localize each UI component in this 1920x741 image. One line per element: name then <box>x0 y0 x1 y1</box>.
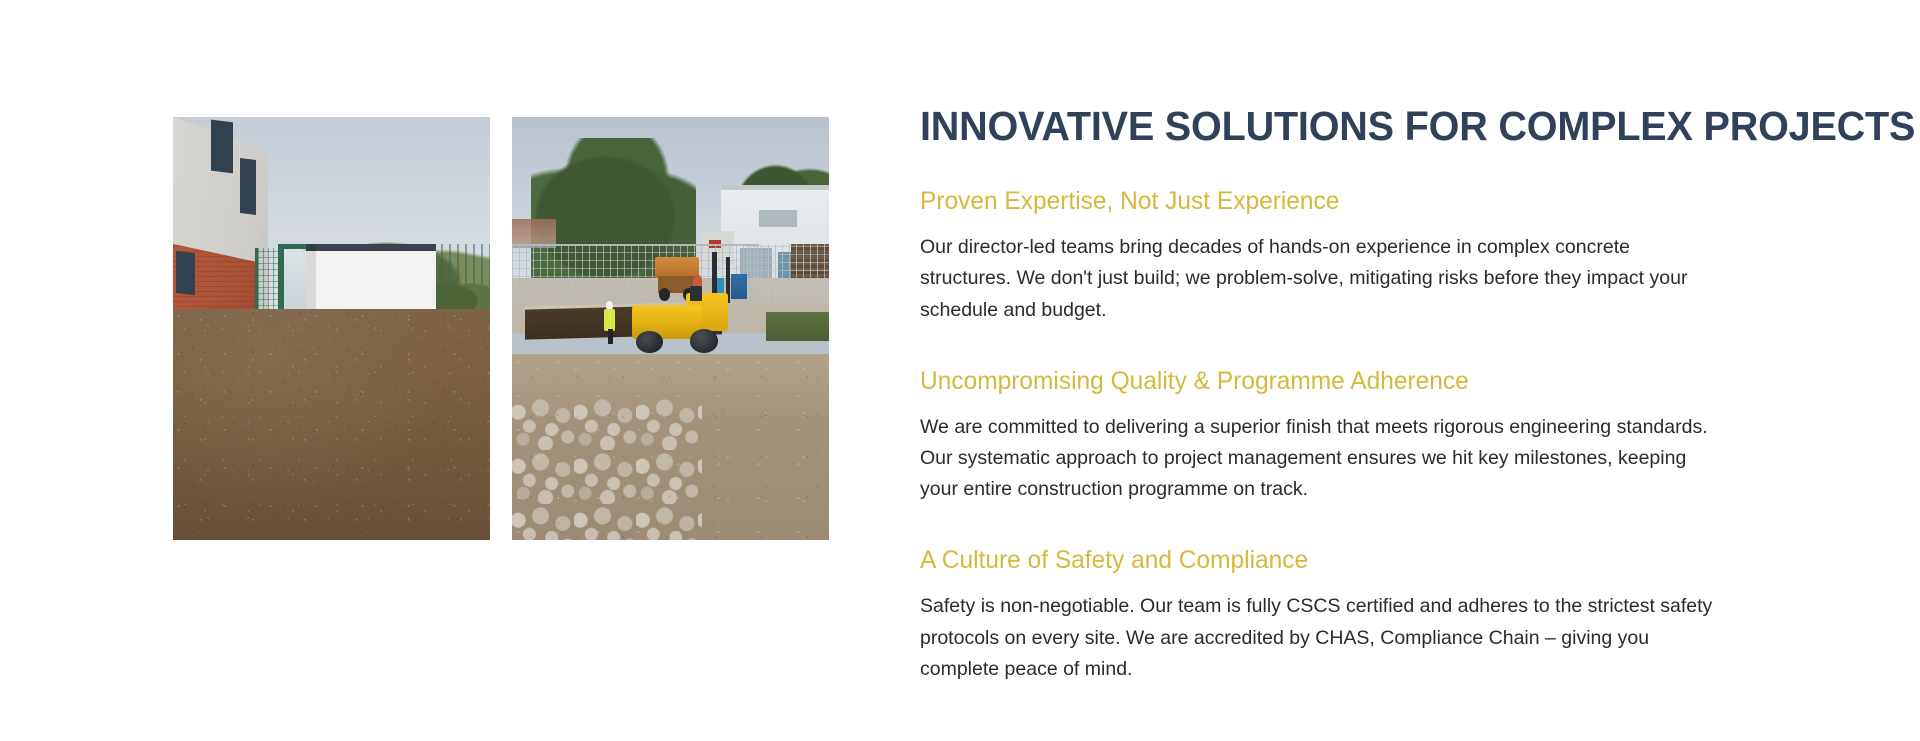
window <box>240 158 256 215</box>
blue-site-bin <box>731 274 747 299</box>
site-dumper-skip <box>655 257 699 278</box>
section-proven-expertise: Proven Expertise, Not Just Experience Ou… <box>920 186 1780 326</box>
roller-front-drum <box>636 331 663 354</box>
mesh-fence-gate <box>255 248 284 311</box>
section-uncompromising-quality: Uncompromising Quality & Programme Adher… <box>920 366 1780 506</box>
window <box>211 120 233 173</box>
worker-hi-vis-vest <box>604 309 615 330</box>
heras-fencing <box>747 244 829 303</box>
section-body-uncompromising-quality: We are committed to delivering a superio… <box>920 412 1720 506</box>
worker-legs <box>608 329 613 343</box>
page-title: INNOVATIVE SOLUTIONS FOR COMPLEX PROJECT… <box>920 104 1750 148</box>
section-body-safety-compliance: Safety is non-negotiable. Our team is fu… <box>920 591 1720 685</box>
roller-compaction-photo: Yellow ride-on tandem roller compacting … <box>512 117 829 540</box>
earth-texture <box>173 309 490 540</box>
dumper-wheel <box>659 288 670 301</box>
modular-cabin <box>303 244 436 319</box>
content-column: INNOVATIVE SOLUTIONS FOR COMPLEX PROJECT… <box>920 104 1780 685</box>
window <box>176 251 195 296</box>
section-heading-proven-expertise: Proven Expertise, Not Just Experience <box>920 186 1763 216</box>
section-heading-safety-compliance: A Culture of Safety and Compliance <box>920 545 1763 575</box>
photo-gallery: Cleared construction compound with level… <box>173 117 838 540</box>
window <box>759 210 797 227</box>
section-safety-compliance: A Culture of Safety and Compliance Safet… <box>920 545 1780 685</box>
ground-texture <box>512 354 829 540</box>
section-heading-uncompromising-quality: Uncompromising Quality & Programme Adher… <box>920 366 1763 396</box>
roller-seat <box>690 286 703 301</box>
roller-rear-drum <box>690 329 719 353</box>
grass-verge <box>766 312 829 342</box>
cleared-compound-photo: Cleared construction compound with level… <box>173 117 490 540</box>
page-root: Cleared construction compound with level… <box>0 0 1920 741</box>
section-body-proven-expertise: Our director-led teams bring decades of … <box>920 232 1720 326</box>
